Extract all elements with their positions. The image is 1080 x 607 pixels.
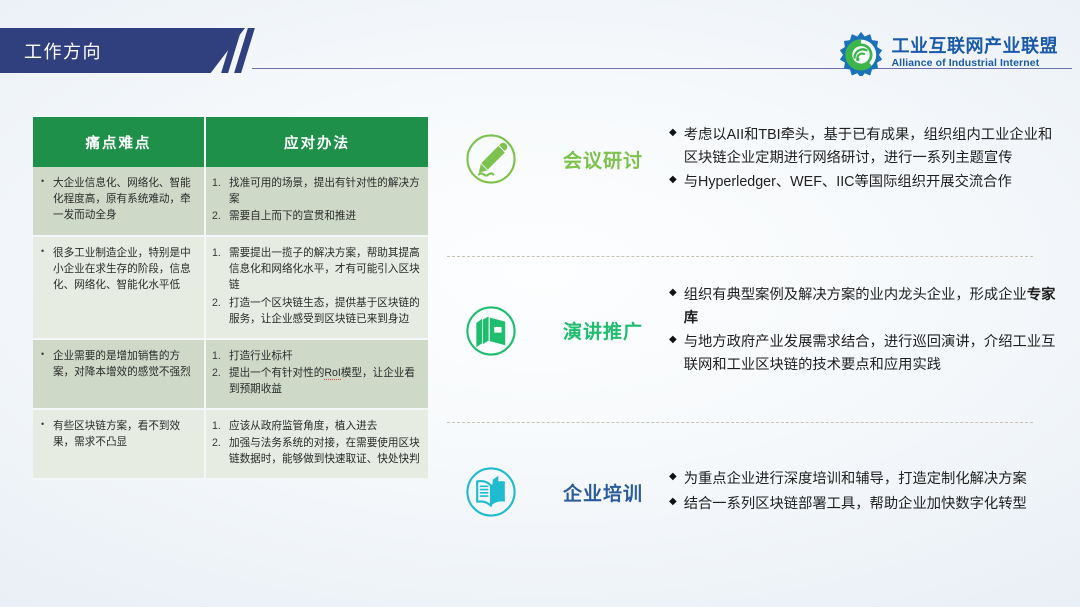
- books-circle-icon: [445, 285, 537, 377]
- bullet-text: 考虑以AII和TBI牵头，基于已有成果，组织组内工业企业和区块链企业定期进行网络…: [684, 124, 1058, 170]
- list-item: •企业需要的是增加销售的方案，对降本增效的感觉不强烈: [39, 348, 198, 380]
- table-header-row: 痛点难点 应对办法: [33, 117, 428, 167]
- table-row: •很多工业制造企业，特别是中小企业在求生存的阶段，信息化、网络化、智能化水平低1…: [33, 236, 428, 338]
- list-item: 2.提出一个有针对性的RoI模型，让企业看到预期收益: [212, 365, 422, 397]
- bullet-text: 与地方政府产业发展需求结合，进行巡回演讲，介绍工业互联网和工业区块链的技术要点和…: [684, 331, 1058, 377]
- bullet-text: 结合一系列区块链部署工具，帮助企业加快数字化转型: [684, 493, 1058, 516]
- slide-title-banner: 工作方向: [0, 28, 245, 73]
- list-item: •很多工业制造企业，特别是中小企业在求生存的阶段，信息化、网络化、智能化水平低: [39, 245, 198, 293]
- list-item: 1.应该从政府监管角度，植入进去: [212, 418, 422, 434]
- logo-chinese-name: 工业互联网产业联盟: [892, 37, 1059, 55]
- bullet-list-meeting: ◆考虑以AII和TBI牵头，基于已有成果，组织组内工业企业和区块链企业定期进行网…: [669, 123, 1058, 195]
- page-title: 工作方向: [24, 38, 102, 64]
- number-marker: 2.: [212, 208, 229, 224]
- bullet-item: ◆与地方政府产业发展需求结合，进行巡回演讲，介绍工业互联网和工业区块链的技术要点…: [669, 331, 1058, 377]
- bullet-list-speech: ◆组织有典型案例及解决方案的业内龙头企业，形成企业专家库◆与地方政府产业发展需求…: [669, 283, 1058, 379]
- list-item: 2.加强与法务系统的对接，在需要使用区块链数据时，能够做到快速取证、快处快判: [212, 435, 422, 467]
- table-header-pain: 痛点难点: [33, 117, 205, 167]
- bullet-emphasis: 专家库: [684, 287, 1056, 326]
- section-enterprise-training: 企业培训 ◆为重点企业进行深度培训和辅导，打造定制化解决方案◆结合一系列区块链部…: [445, 446, 1058, 538]
- diamond-bullet-icon: ◆: [669, 332, 677, 348]
- bullet-marker: •: [39, 348, 53, 380]
- section-divider-1: [447, 256, 1033, 257]
- table-row: •企业需要的是增加销售的方案，对降本增效的感觉不强烈1.打造行业标杆2.提出一个…: [33, 339, 428, 409]
- section-label-meeting: 会议研讨: [537, 146, 669, 173]
- list-item-text: 加强与法务系统的对接，在需要使用区块链数据时，能够做到快速取证、快处快判: [229, 435, 422, 467]
- list-item: 1.需要提出一揽子的解决方案，帮助其提高信息化和网络化水平，才有可能引入区块链: [212, 245, 422, 293]
- slide-canvas: 工作方向 工业: [0, 0, 1080, 607]
- list-item-text: 需要提出一揽子的解决方案，帮助其提高信息化和网络化水平，才有可能引入区块链: [229, 245, 422, 293]
- table-cell-solution: 1.需要提出一揽子的解决方案，帮助其提高信息化和网络化水平，才有可能引入区块链2…: [205, 236, 428, 338]
- number-marker: 2.: [212, 435, 229, 467]
- list-item-text: 有些区块链方案，看不到效果，需求不凸显: [53, 418, 198, 450]
- list-item: •大企业信息化、网络化、智能化程度高，原有系统难动，牵一发而动全身: [39, 175, 198, 223]
- section-label-speech: 演讲推广: [537, 317, 669, 344]
- list-item-text: 打造一个区块链生态，提供基于区块链的服务，让企业感受到区块链已来到身边: [229, 295, 422, 327]
- bullet-marker: •: [39, 175, 53, 223]
- bullet-item: ◆考虑以AII和TBI牵头，基于已有成果，组织组内工业企业和区块链企业定期进行网…: [669, 124, 1058, 170]
- list-item-text: 大企业信息化、网络化、智能化程度高，原有系统难动，牵一发而动全身: [53, 175, 198, 223]
- section-label-training: 企业培训: [537, 479, 669, 506]
- list-item: 2.打造一个区块链生态，提供基于区块链的服务，让企业感受到区块链已来到身边: [212, 295, 422, 327]
- spellcheck-flagged-text: RoI: [324, 367, 341, 380]
- number-marker: 2.: [212, 295, 229, 327]
- number-marker: 1.: [212, 245, 229, 293]
- bullet-text: 与Hyperledger、WEF、IIC等国际组织开展交流合作: [684, 171, 1058, 194]
- table-cell-pain: •企业需要的是增加销售的方案，对降本增效的感觉不强烈: [33, 339, 205, 409]
- bullet-text: 为重点企业进行深度培训和辅导，打造定制化解决方案: [684, 468, 1058, 491]
- list-item-text: 打造行业标杆: [229, 348, 422, 364]
- bullet-text: 组织有典型案例及解决方案的业内龙头企业，形成企业专家库: [684, 284, 1058, 330]
- diamond-bullet-icon: ◆: [669, 469, 677, 485]
- table-cell-pain: •有些区块链方案，看不到效果，需求不凸显: [33, 409, 205, 479]
- pencil-circle-icon: [445, 113, 537, 205]
- diamond-bullet-icon: ◆: [669, 494, 677, 510]
- diamond-bullet-icon: ◆: [669, 285, 677, 301]
- section-speech-promotion: 演讲推广 ◆组织有典型案例及解决方案的业内龙头企业，形成企业专家库◆与地方政府产…: [445, 283, 1058, 379]
- organization-logo: 工业互联网产业联盟 Alliance of Industrial Interne…: [838, 30, 1059, 76]
- bullet-item: ◆结合一系列区块链部署工具，帮助企业加快数字化转型: [669, 493, 1058, 516]
- bullet-item: ◆为重点企业进行深度培训和辅导，打造定制化解决方案: [669, 468, 1058, 491]
- gear-wifi-logo-icon: [838, 30, 884, 76]
- logo-wordmark: 工业互联网产业联盟 Alliance of Industrial Interne…: [892, 37, 1059, 69]
- list-item: •有些区块链方案，看不到效果，需求不凸显: [39, 418, 198, 450]
- table-header-solution: 应对办法: [205, 117, 428, 167]
- table-cell-solution: 1.应该从政府监管角度，植入进去2.加强与法务系统的对接，在需要使用区块链数据时…: [205, 409, 428, 479]
- list-item: 1.找准可用的场景，提出有针对性的解决方案: [212, 175, 422, 207]
- table-cell-pain: •很多工业制造企业，特别是中小企业在求生存的阶段，信息化、网络化、智能化水平低: [33, 236, 205, 338]
- section-divider-2: [447, 422, 1033, 423]
- table-row: •有些区块链方案，看不到效果，需求不凸显1.应该从政府监管角度，植入进去2.加强…: [33, 409, 428, 479]
- logo-english-name: Alliance of Industrial Internet: [892, 58, 1059, 69]
- table-body: •大企业信息化、网络化、智能化程度高，原有系统难动，牵一发而动全身1.找准可用的…: [33, 167, 428, 479]
- list-item-text: 企业需要的是增加销售的方案，对降本增效的感觉不强烈: [53, 348, 198, 380]
- table-cell-pain: •大企业信息化、网络化、智能化程度高，原有系统难动，牵一发而动全身: [33, 167, 205, 236]
- open-book-circle-icon: [445, 446, 537, 538]
- diamond-bullet-icon: ◆: [669, 172, 677, 188]
- pain-points-table: 痛点难点 应对办法 •大企业信息化、网络化、智能化程度高，原有系统难动，牵一发而…: [33, 117, 428, 480]
- table-cell-solution: 1.找准可用的场景，提出有针对性的解决方案2.需要自上而下的宣贯和推进: [205, 167, 428, 236]
- list-item: 2.需要自上而下的宣贯和推进: [212, 208, 422, 224]
- section-meeting-seminar: 会议研讨 ◆考虑以AII和TBI牵头，基于已有成果，组织组内工业企业和区块链企业…: [445, 113, 1058, 205]
- list-item-text: 提出一个有针对性的RoI模型，让企业看到预期收益: [229, 365, 422, 397]
- list-item-text: 找准可用的场景，提出有针对性的解决方案: [229, 175, 422, 207]
- list-item: 1.打造行业标杆: [212, 348, 422, 364]
- bullet-list-training: ◆为重点企业进行深度培训和辅导，打造定制化解决方案◆结合一系列区块链部署工具，帮…: [669, 467, 1058, 516]
- number-marker: 1.: [212, 418, 229, 434]
- diamond-bullet-icon: ◆: [669, 125, 677, 141]
- bullet-marker: •: [39, 418, 53, 450]
- bullet-item: ◆与Hyperledger、WEF、IIC等国际组织开展交流合作: [669, 171, 1058, 194]
- bullet-item: ◆组织有典型案例及解决方案的业内龙头企业，形成企业专家库: [669, 284, 1058, 330]
- list-item-text: 需要自上而下的宣贯和推进: [229, 208, 422, 224]
- number-marker: 1.: [212, 175, 229, 207]
- number-marker: 1.: [212, 348, 229, 364]
- list-item-text: 应该从政府监管角度，植入进去: [229, 418, 422, 434]
- number-marker: 2.: [212, 365, 229, 397]
- list-item-text: 很多工业制造企业，特别是中小企业在求生存的阶段，信息化、网络化、智能化水平低: [53, 245, 198, 293]
- table-row: •大企业信息化、网络化、智能化程度高，原有系统难动，牵一发而动全身1.找准可用的…: [33, 167, 428, 236]
- table-cell-solution: 1.打造行业标杆2.提出一个有针对性的RoI模型，让企业看到预期收益: [205, 339, 428, 409]
- bullet-marker: •: [39, 245, 53, 293]
